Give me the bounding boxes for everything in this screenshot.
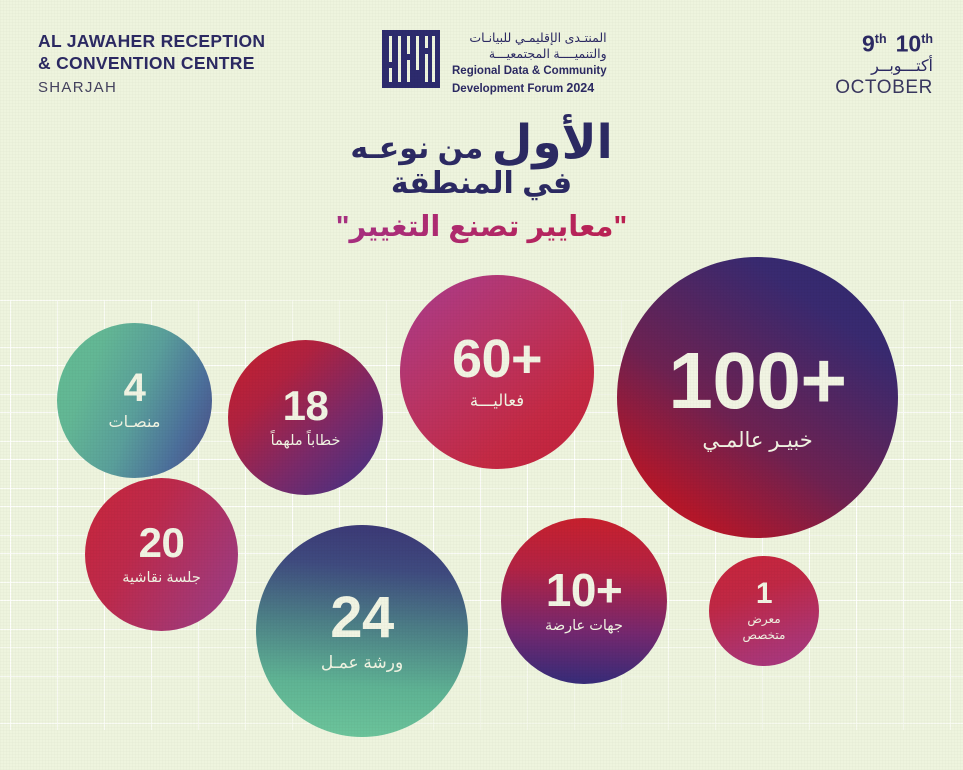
stat-value-talks: 18 [283, 385, 329, 427]
venue-line-2: & CONVENTION CENTRE [38, 52, 265, 74]
event-dates-block: 9th10th أكتـــوبــر OCTOBER [835, 26, 933, 99]
headline-line-1: الأول من نوعـه [0, 118, 963, 169]
forum-barcode-logo-icon [382, 30, 440, 88]
stat-label-panels: جلسة نقاشية [122, 569, 201, 587]
forum-name-en-line-1: Regional Data & Community [452, 64, 607, 79]
event-day-1-suffix: th [875, 32, 887, 46]
forum-name-en-line-2: Development Forum 2024 [452, 81, 607, 97]
headline-line-2: في المنطقة [0, 165, 963, 203]
venue-line-1: AL JAWAHER RECEPTION [38, 30, 265, 52]
forum-name-ar-line-2: والتنميــــة المجتمعيـــة [452, 47, 607, 63]
poster-header: AL JAWAHER RECEPTION & CONVENTION CENTRE… [0, 0, 963, 120]
stat-bubble-panels: 20 جلسة نقاشية [85, 478, 238, 631]
stat-value-events: 60+ [452, 332, 542, 386]
stat-bubble-experts: 100+ خبيـر عالمـي [617, 257, 898, 538]
stat-bubble-workshops: 24 ورشة عمـل [256, 525, 468, 737]
event-day-2-suffix: th [921, 32, 933, 46]
headline-tagline: "معايير تصنع التغيير" [0, 209, 963, 245]
stat-value-experts: 100+ [668, 341, 846, 421]
stat-bubble-exhibitors: 10+ جهات عارضة [501, 518, 667, 684]
poster-canvas: AL JAWAHER RECEPTION & CONVENTION CENTRE… [0, 0, 963, 770]
stat-value-expo: 1 [756, 579, 772, 609]
stat-label-expo: معرض متخصص [743, 612, 786, 643]
headline-line-1-small: من نوعـه [350, 132, 483, 165]
venue-block: AL JAWAHER RECEPTION & CONVENTION CENTRE… [38, 30, 265, 99]
headline-block: الأول من نوعـه في المنطقة "معايير تصنع ا… [0, 118, 963, 245]
stat-value-platforms: 4 [124, 368, 146, 408]
stat-bubble-events: 60+ فعاليـــة [400, 275, 594, 469]
stat-value-workshops: 24 [330, 589, 394, 647]
forum-name-en-line-2-text: Development Forum [452, 83, 563, 95]
event-month-ar: أكتـــوبــر [835, 57, 933, 77]
event-month-en: OCTOBER [835, 77, 933, 99]
stat-bubble-talks: 18 خطاباً ملهماً [228, 340, 383, 495]
stat-value-exhibitors: 10+ [546, 567, 623, 613]
forum-name-ar-line-1: المنتـدى الإقليمـي للبيانـات [452, 31, 607, 47]
stat-value-panels: 20 [139, 522, 185, 564]
stat-label-workshops: ورشة عمـل [321, 652, 403, 673]
venue-city: SHARJAH [38, 77, 265, 99]
stat-label-talks: خطاباً ملهماً [271, 432, 341, 450]
headline-emphasis: الأول [492, 115, 613, 168]
event-day-2: 10 [896, 31, 922, 57]
forum-logo-block: المنتـدى الإقليمـي للبيانـات والتنميــــ… [382, 30, 607, 97]
stat-label-events: فعاليـــة [470, 391, 524, 412]
stat-label-experts: خبيـر عالمـي [702, 428, 812, 454]
forum-year: 2024 [566, 81, 594, 95]
stat-label-exhibitors: جهات عارضة [545, 617, 623, 635]
event-day-1: 9 [862, 31, 875, 57]
forum-logo-text: المنتـدى الإقليمـي للبيانـات والتنميــــ… [452, 30, 607, 97]
stat-label-platforms: منصـات [109, 413, 161, 433]
stat-bubble-expo: 1 معرض متخصص [709, 556, 819, 666]
stat-bubble-platforms: 4 منصـات [57, 323, 212, 478]
event-days: 9th10th [835, 26, 933, 57]
